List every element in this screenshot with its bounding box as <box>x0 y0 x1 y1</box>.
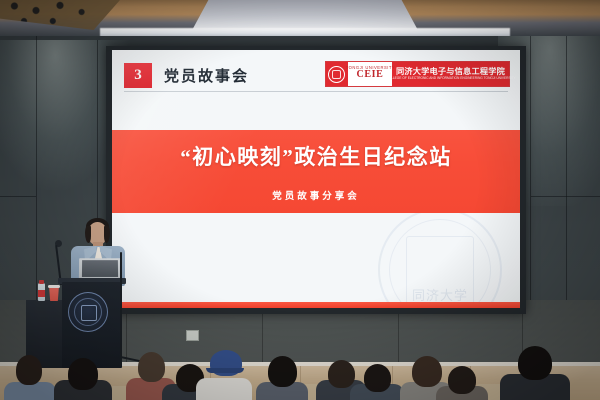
wall-seam <box>0 196 36 197</box>
wall-seam <box>530 36 531 336</box>
school-logo-acronym-block: TONGJI UNIVERSITY CEIE <box>348 62 392 86</box>
school-logo-acronym: CEIE <box>357 70 384 80</box>
school-logo: TONGJI UNIVERSITY CEIE 同济大学电子与信息工程学院 COL… <box>325 61 510 87</box>
wall-seam <box>36 36 37 336</box>
wall-seam <box>531 196 600 197</box>
water-bottle-label <box>38 290 45 297</box>
school-logo-name-block: 同济大学电子与信息工程学院 COLLEGE OF ELECTRONIC AND … <box>392 62 509 86</box>
slide-title-band: “初心映刻”政治生日纪念站 党员故事分享会 <box>112 130 520 213</box>
power-cable <box>120 252 122 367</box>
tongji-crest-icon <box>326 62 348 86</box>
projection-screen: 3 党员故事会 TONGJI UNIVERSITY CEIE 同济大学电子与信息… <box>112 50 520 308</box>
water-bottle-cap <box>39 280 44 284</box>
slide-header-title: 党员故事会 <box>164 65 249 86</box>
cap-brim <box>206 368 244 373</box>
laptop-screen <box>82 260 118 277</box>
school-logo-english-name: COLLEGE OF ELECTRONIC AND INFORMATION EN… <box>386 77 515 80</box>
podium-university-seal-icon <box>68 292 108 332</box>
wall-seam <box>566 36 567 336</box>
slide-watermark-crest: 同济大学 <box>378 208 502 308</box>
slide-footer-bar <box>112 302 520 308</box>
school-logo-english-top: TONGJI UNIVERSITY <box>345 67 394 71</box>
slide-header-divider <box>124 91 508 92</box>
wall-outlet <box>186 330 199 341</box>
lecture-hall-photo: 3 党员故事会 TONGJI UNIVERSITY CEIE 同济大学电子与信息… <box>0 0 600 400</box>
slide-page-number: 3 <box>124 63 152 88</box>
paper-cup-rim <box>48 285 60 288</box>
speaker-hair-left <box>85 226 91 243</box>
slide-main-title: “初心映刻”政治生日纪念站 <box>180 141 452 171</box>
slide-sub-title: 党员故事分享会 <box>272 188 360 202</box>
paper-cup <box>49 286 59 301</box>
